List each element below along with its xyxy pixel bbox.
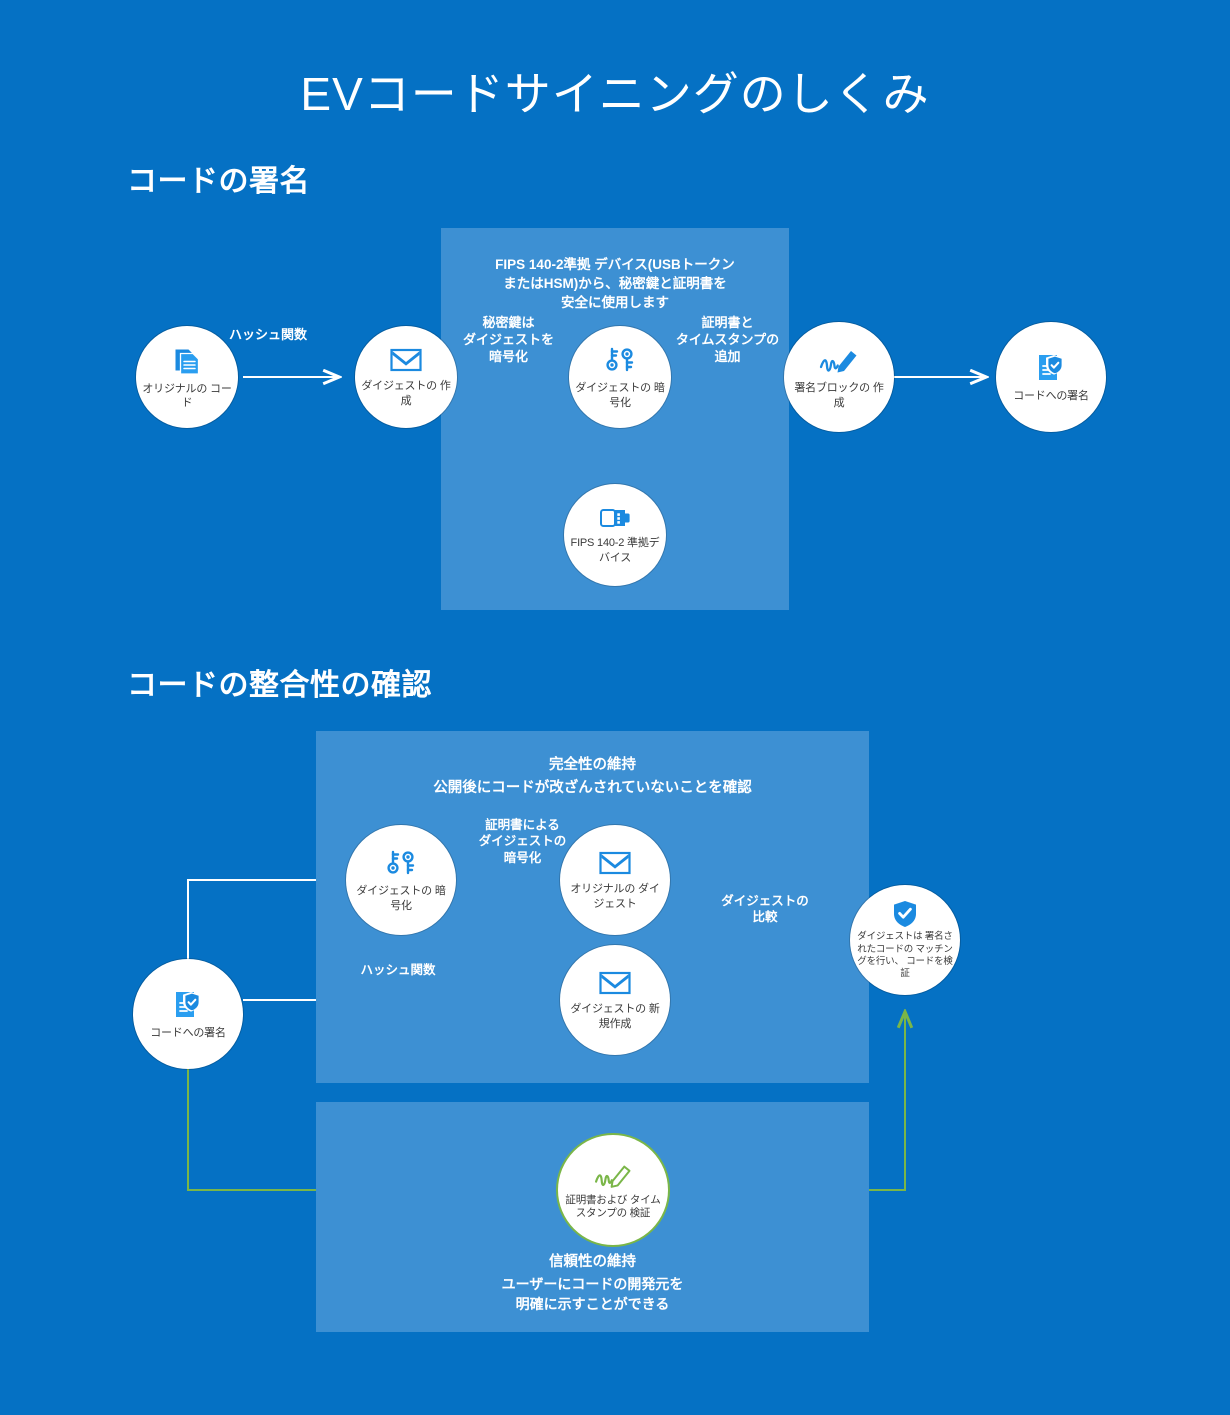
node-label: ダイジェストの 作成 [355,379,457,407]
trust-caption-head: 信頼性の維持 [316,1252,869,1273]
connector-label-cert-timestamp: 証明書と タイムスタンプの 追加 [655,315,800,366]
node-label: コードへの署名 [144,1026,232,1040]
node-label: 証明書および タイムスタンプの 検証 [558,1194,668,1221]
trust-caption-sub: ユーザーにコードの開発元を 明確に示すことができる [316,1275,869,1315]
shield-check-icon [891,899,919,929]
node-decrypt-digest[interactable]: ダイジェストの 暗号化 [346,825,456,935]
node-encrypt-digest[interactable]: ダイジェストの 暗号化 [569,326,671,428]
node-label: ダイジェストの 暗号化 [346,884,456,912]
fips-panel-caption: FIPS 140-2準拠 デバイス(USBトークン またはHSM)から、秘密鍵と… [441,255,789,312]
node-label: オリジナルの コード [136,382,238,410]
node-verify-signature[interactable]: 証明書および タイムスタンプの 検証 [558,1135,668,1245]
signature-icon [817,344,861,378]
node-label: コードへの署名 [1007,389,1095,403]
signed-document-icon [169,987,207,1023]
signed-document-icon [1032,350,1070,386]
connector-label-hash-function-2: ハッシュ関数 [318,962,478,978]
node-label: FIPS 140-2 準拠デバイス [564,536,666,564]
node-signature-block[interactable]: 署名ブロックの 作成 [784,322,894,432]
node-verify-result[interactable]: ダイジェストは 署名されたコードの マッチングを行い、 コードを検証 [850,885,960,995]
node-signed-code-verify[interactable]: コードへの署名 [133,959,243,1069]
node-label: ダイジェストは 署名されたコードの マッチングを行い、 コードを検証 [850,931,960,980]
documents-icon [170,344,204,378]
signature-icon-green [591,1160,635,1192]
node-label: ダイジェストの 暗号化 [569,381,671,409]
integrity-caption-sub: 公開後にコードが改ざんされていないことを確認 [316,778,869,799]
section-title-signing: コードの署名 [127,156,310,200]
node-original-code[interactable]: オリジナルの コード [136,326,238,428]
node-fips-device[interactable]: FIPS 140-2 準拠デバイス [564,484,666,586]
connector-label-private-key: 秘密鍵は ダイジェストを 暗号化 [437,315,580,366]
node-original-digest[interactable]: オリジナルの ダイジェスト [560,825,670,935]
usb-token-icon [597,505,633,531]
envelope-icon [389,346,423,374]
node-new-digest[interactable]: ダイジェストの 新規作成 [560,945,670,1055]
envelope-icon [598,969,632,997]
connector-label-compare-digest: ダイジェストの 比較 [700,893,830,926]
section-title-verification: コードの整合性の確認 [127,660,432,704]
node-label: オリジナルの ダイジェスト [560,882,670,910]
key-icon [383,847,419,881]
integrity-caption-head: 完全性の維持 [316,755,869,776]
page-title: EVコードサイニングのしくみ [0,58,1230,124]
node-create-digest[interactable]: ダイジェストの 作成 [355,326,457,428]
node-signed-code[interactable]: コードへの署名 [996,322,1106,432]
key-icon [602,344,638,378]
node-label: ダイジェストの 新規作成 [560,1002,670,1030]
envelope-icon [598,849,632,877]
diagram-canvas: EVコードサイニングのしくみ コードの署名 コードの整合性の確認 FIPS 14… [0,0,1230,1415]
node-label: 署名ブロックの 作成 [784,381,894,409]
